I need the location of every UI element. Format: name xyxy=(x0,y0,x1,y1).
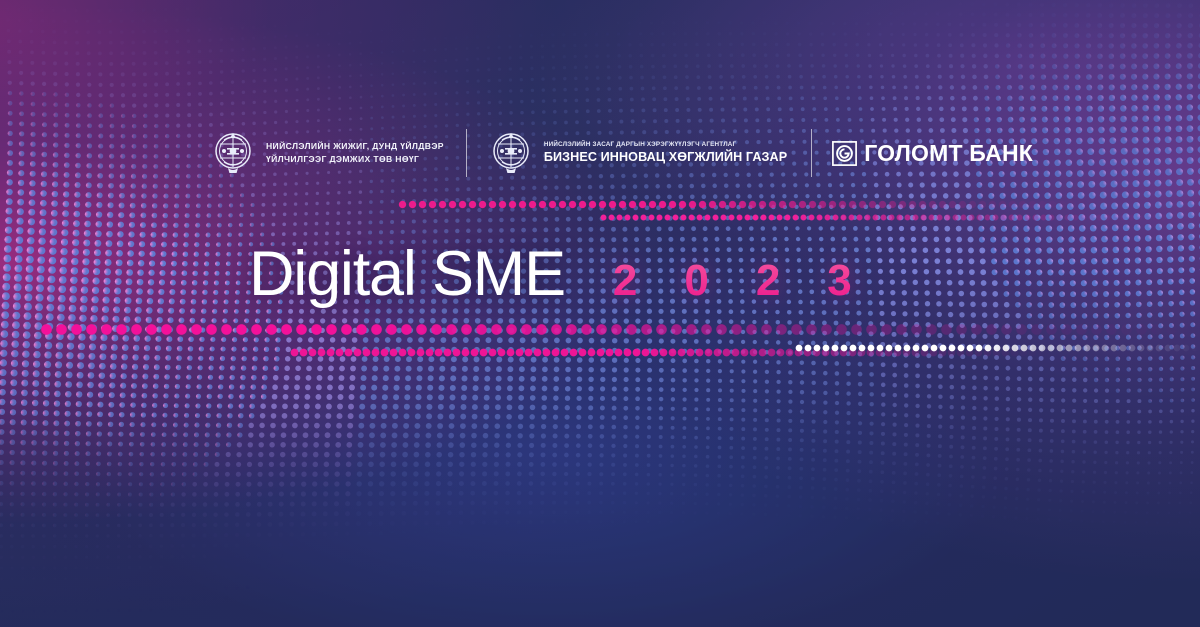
digital-sme-2023-banner: НИЙСЛЭЛИЙН ЖИЖИГ, ДУНД ҮЙЛДВЭР ҮЙЛЧИЛГЭЭ… xyxy=(0,0,1200,627)
year-label: 2023 xyxy=(613,259,899,303)
white-dotted-rule xyxy=(795,344,1200,352)
logo-divider-1 xyxy=(466,129,467,177)
partner-sme-line2: ҮЙЛЧИЛГЭЭГ ДЭМЖИХ ТӨВ НӨҮГ xyxy=(266,153,444,166)
soyombo-emblem-icon xyxy=(211,127,255,179)
pink-dotted-rule-main xyxy=(40,323,1200,336)
partner-logo-business-innovation: НИЙСЛЭЛИЙН ЗАСАГ ДАРГЫН ХЭРЭГЖҮҮЛЭГЧ АГЕ… xyxy=(489,127,787,179)
halftone-dot-wave-pattern xyxy=(0,0,1200,627)
partner-logo-golomt-bank: ГОЛОМТ БАНК xyxy=(832,140,1033,167)
pink-dotted-rule-upper xyxy=(398,200,1098,209)
partner-bid-subtitle: НИЙСЛЭЛИЙН ЗАСАГ ДАРГЫН ХЭРЭГЖҮҮЛЭГЧ АГЕ… xyxy=(544,140,787,149)
logo-divider-2 xyxy=(811,129,812,177)
headline-block: Digital SME 2023 xyxy=(249,243,899,306)
pink-dotted-rule-upper2 xyxy=(600,214,1200,221)
golomt-g-mark-icon xyxy=(832,141,857,166)
partner-bid-name: БИЗНЕС ИННОВАЦ ХӨГЖЛИЙН ГАЗАР xyxy=(544,149,787,166)
soyombo-emblem-icon xyxy=(489,127,533,179)
partner-sme-line1: НИЙСЛЭЛИЙН ЖИЖИГ, ДУНД ҮЙЛДВЭР xyxy=(266,140,444,153)
partner-golomt-name: ГОЛОМТ БАНК xyxy=(864,140,1033,167)
partner-logo-bar: НИЙСЛЭЛИЙН ЖИЖИГ, ДУНД ҮЙЛДВЭР ҮЙЛЧИЛГЭЭ… xyxy=(211,126,1033,180)
partner-logo-sme-center: НИЙСЛЭЛИЙН ЖИЖИГ, ДУНД ҮЙЛДВЭР ҮЙЛЧИЛГЭЭ… xyxy=(211,127,444,179)
page-title: Digital SME xyxy=(249,243,565,306)
